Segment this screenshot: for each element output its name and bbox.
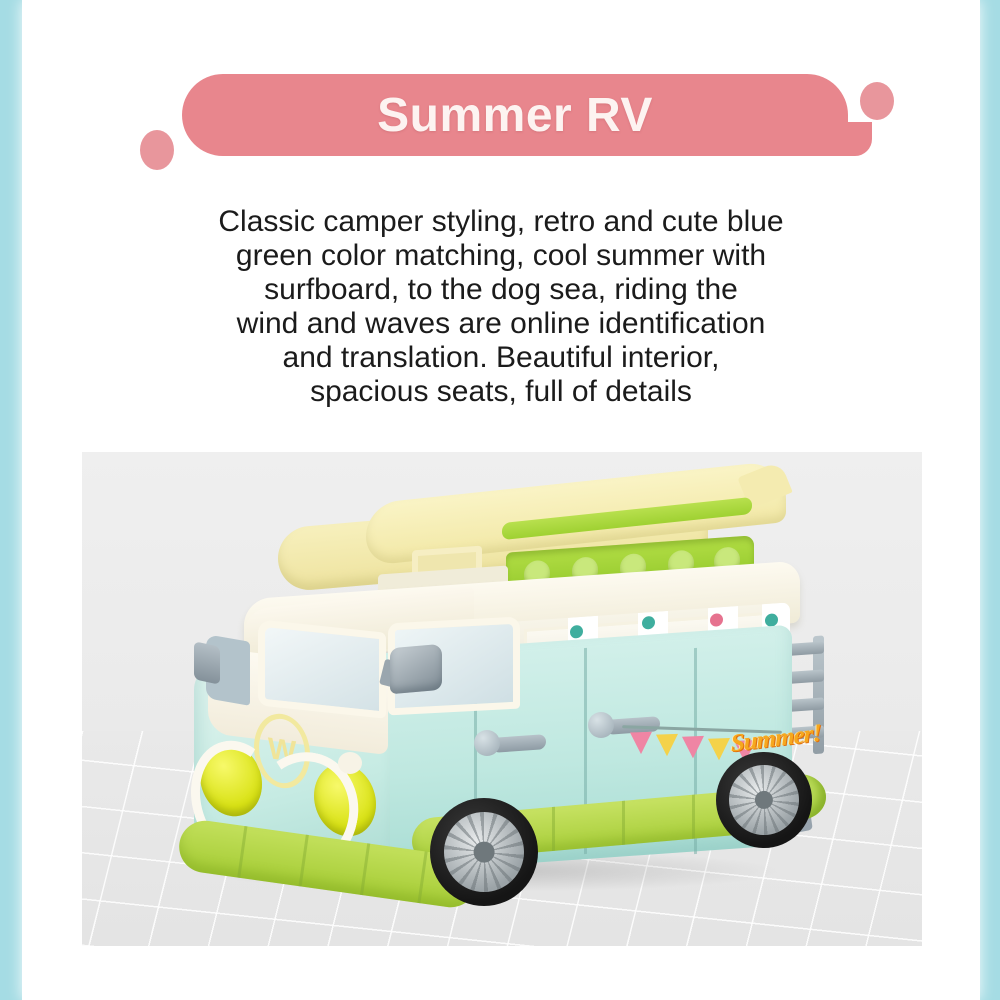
product-description: Classic camper styling, retro and cute b… [82, 205, 920, 409]
description-line: green color matching, cool summer with [82, 239, 920, 273]
decorative-dot-right-icon [860, 82, 894, 120]
decorative-dot-left-icon [140, 130, 174, 170]
door-handle-knob [588, 712, 614, 738]
front-hubcap [444, 812, 524, 892]
door-handle-knob [474, 730, 500, 756]
description-line: spacious seats, full of details [82, 375, 920, 409]
description-line: surfboard, to the dog sea, riding the [82, 273, 920, 307]
description-line: wind and waves are online identification [82, 307, 920, 341]
page-title: Summer RV [182, 74, 848, 156]
camper-van-model: Summer! W [82, 452, 922, 946]
product-image: Summer! W [82, 452, 922, 946]
description-line: and translation. Beautiful interior, [82, 341, 920, 375]
title-banner: Summer RV [22, 62, 980, 180]
content-card: Summer RV Classic camper styling, retro … [22, 0, 980, 1000]
side-mirror [390, 644, 442, 695]
front-tube-end-cap [338, 752, 362, 774]
rear-wheel [716, 752, 812, 848]
windshield [258, 619, 386, 718]
description-line: Classic camper styling, retro and cute b… [82, 205, 920, 239]
rear-hubcap [729, 765, 799, 835]
left-mirror [194, 641, 220, 685]
product-page: Summer RV Classic camper styling, retro … [0, 0, 1000, 1000]
front-wheel [430, 798, 538, 906]
